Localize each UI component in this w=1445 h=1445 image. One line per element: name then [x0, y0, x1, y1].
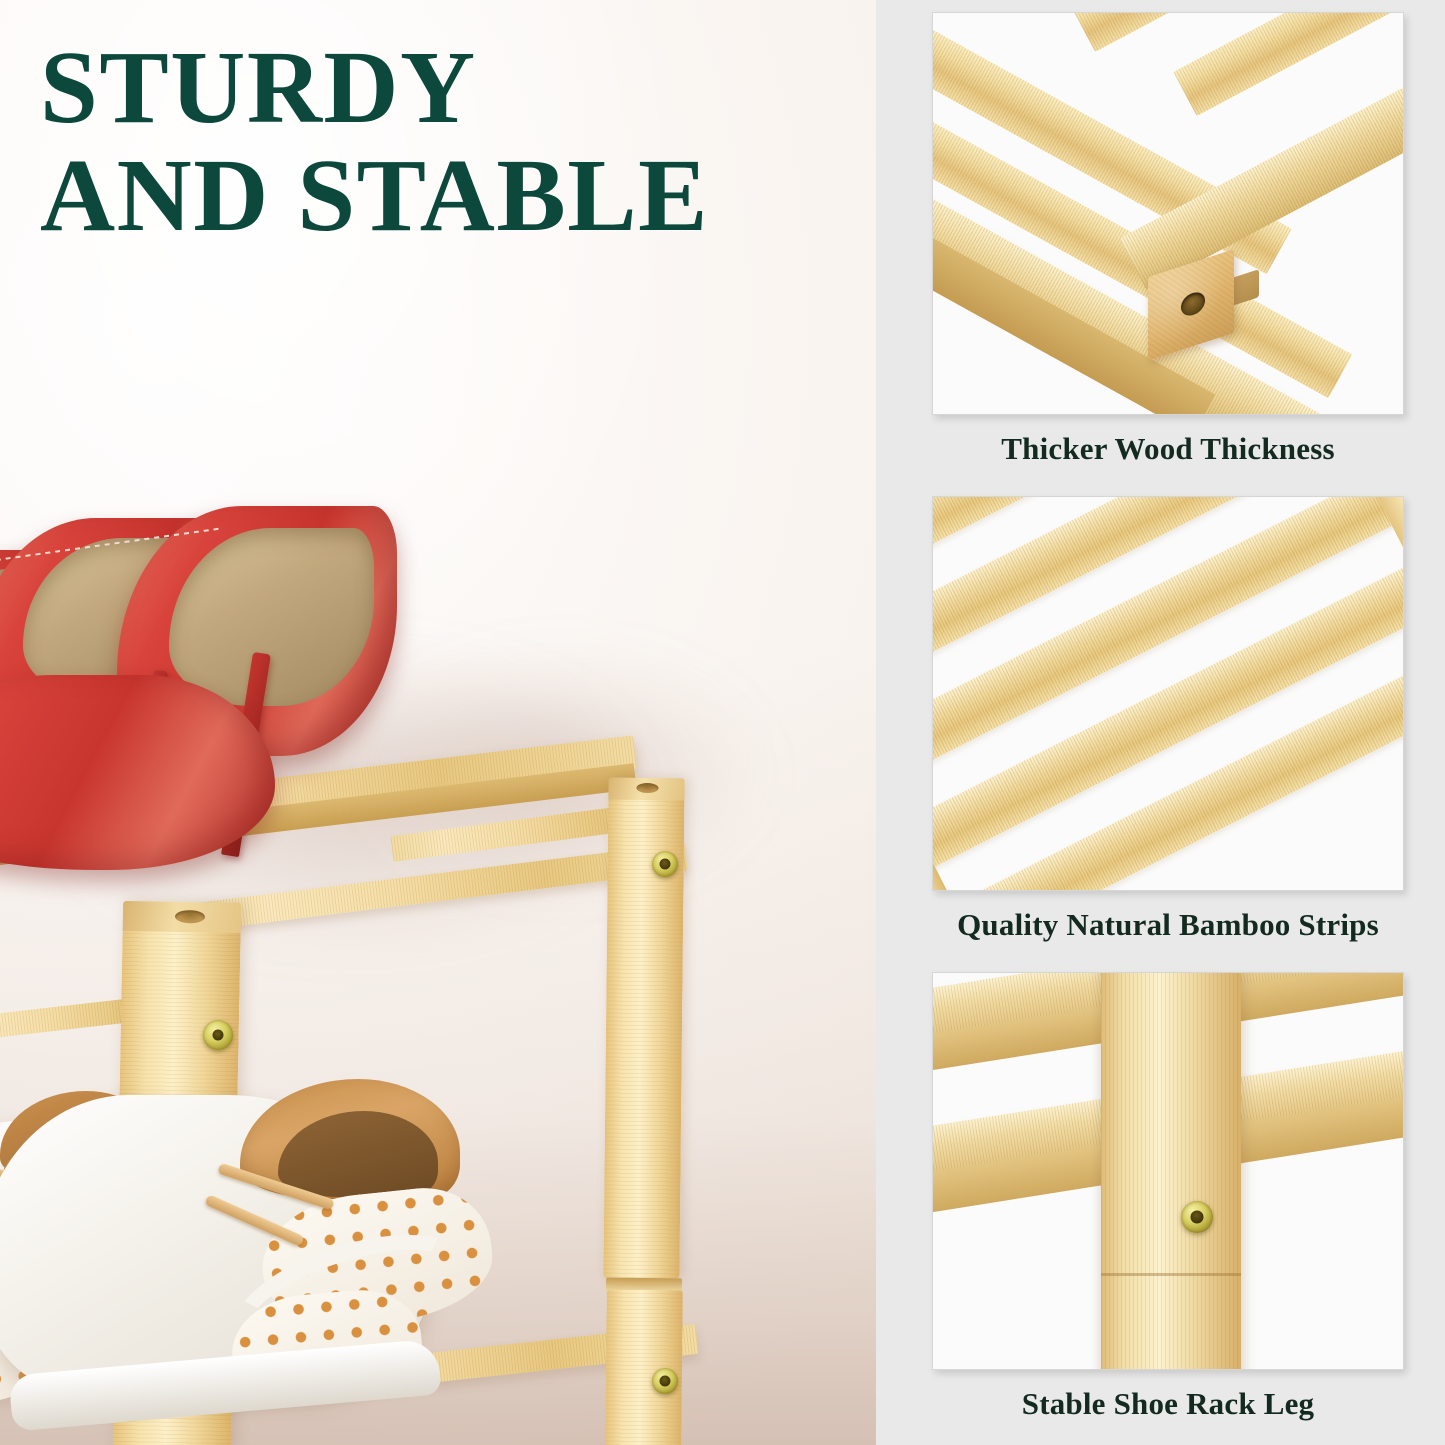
feature-image-frame: [932, 972, 1404, 1370]
heel-insole: [169, 528, 374, 706]
screw-icon: [203, 1020, 233, 1050]
feature-image-frame: [932, 496, 1404, 891]
screw-icon: [652, 851, 678, 877]
feature-panel-bamboo-strips: Quality Natural Bamboo Strips: [932, 496, 1404, 943]
white-sneakers: [0, 1085, 500, 1445]
bamboo-slat: [1173, 13, 1403, 116]
page-title: STURDY AND STABLE: [40, 34, 709, 250]
feature-caption: Thicker Wood Thickness: [932, 431, 1404, 467]
feature-caption: Stable Shoe Rack Leg: [932, 1386, 1404, 1422]
hero-photo: STURDY AND STABLE: [0, 0, 876, 1445]
rack-post-back-lower: [605, 1290, 683, 1445]
stable-leg-closeup-art: [933, 973, 1403, 1369]
headline-line-1: STURDY: [40, 34, 709, 142]
feature-panel-thicker-wood: Thicker Wood Thickness: [932, 12, 1404, 467]
feature-detail-column: Thicker Wood Thickness Quality Natural B…: [876, 0, 1445, 1445]
marketing-image: STURDY AND STABLE Th: [0, 0, 1445, 1445]
feature-caption: Quality Natural Bamboo Strips: [932, 907, 1404, 943]
headline-line-2: AND STABLE: [40, 142, 709, 250]
rack-post-back-hole: [636, 783, 658, 793]
screw-icon: [1181, 1201, 1213, 1233]
feature-panel-stable-leg: Stable Shoe Rack Leg: [932, 972, 1404, 1422]
bamboo-strips-closeup-art: [933, 497, 1403, 890]
rack-leg-seam: [1101, 1273, 1241, 1276]
rack-leg: [1101, 973, 1241, 1369]
screw-icon: [652, 1368, 678, 1394]
red-high-heels: [0, 500, 415, 940]
thicker-wood-closeup-art: [933, 13, 1403, 414]
feature-image-frame: [932, 12, 1404, 415]
